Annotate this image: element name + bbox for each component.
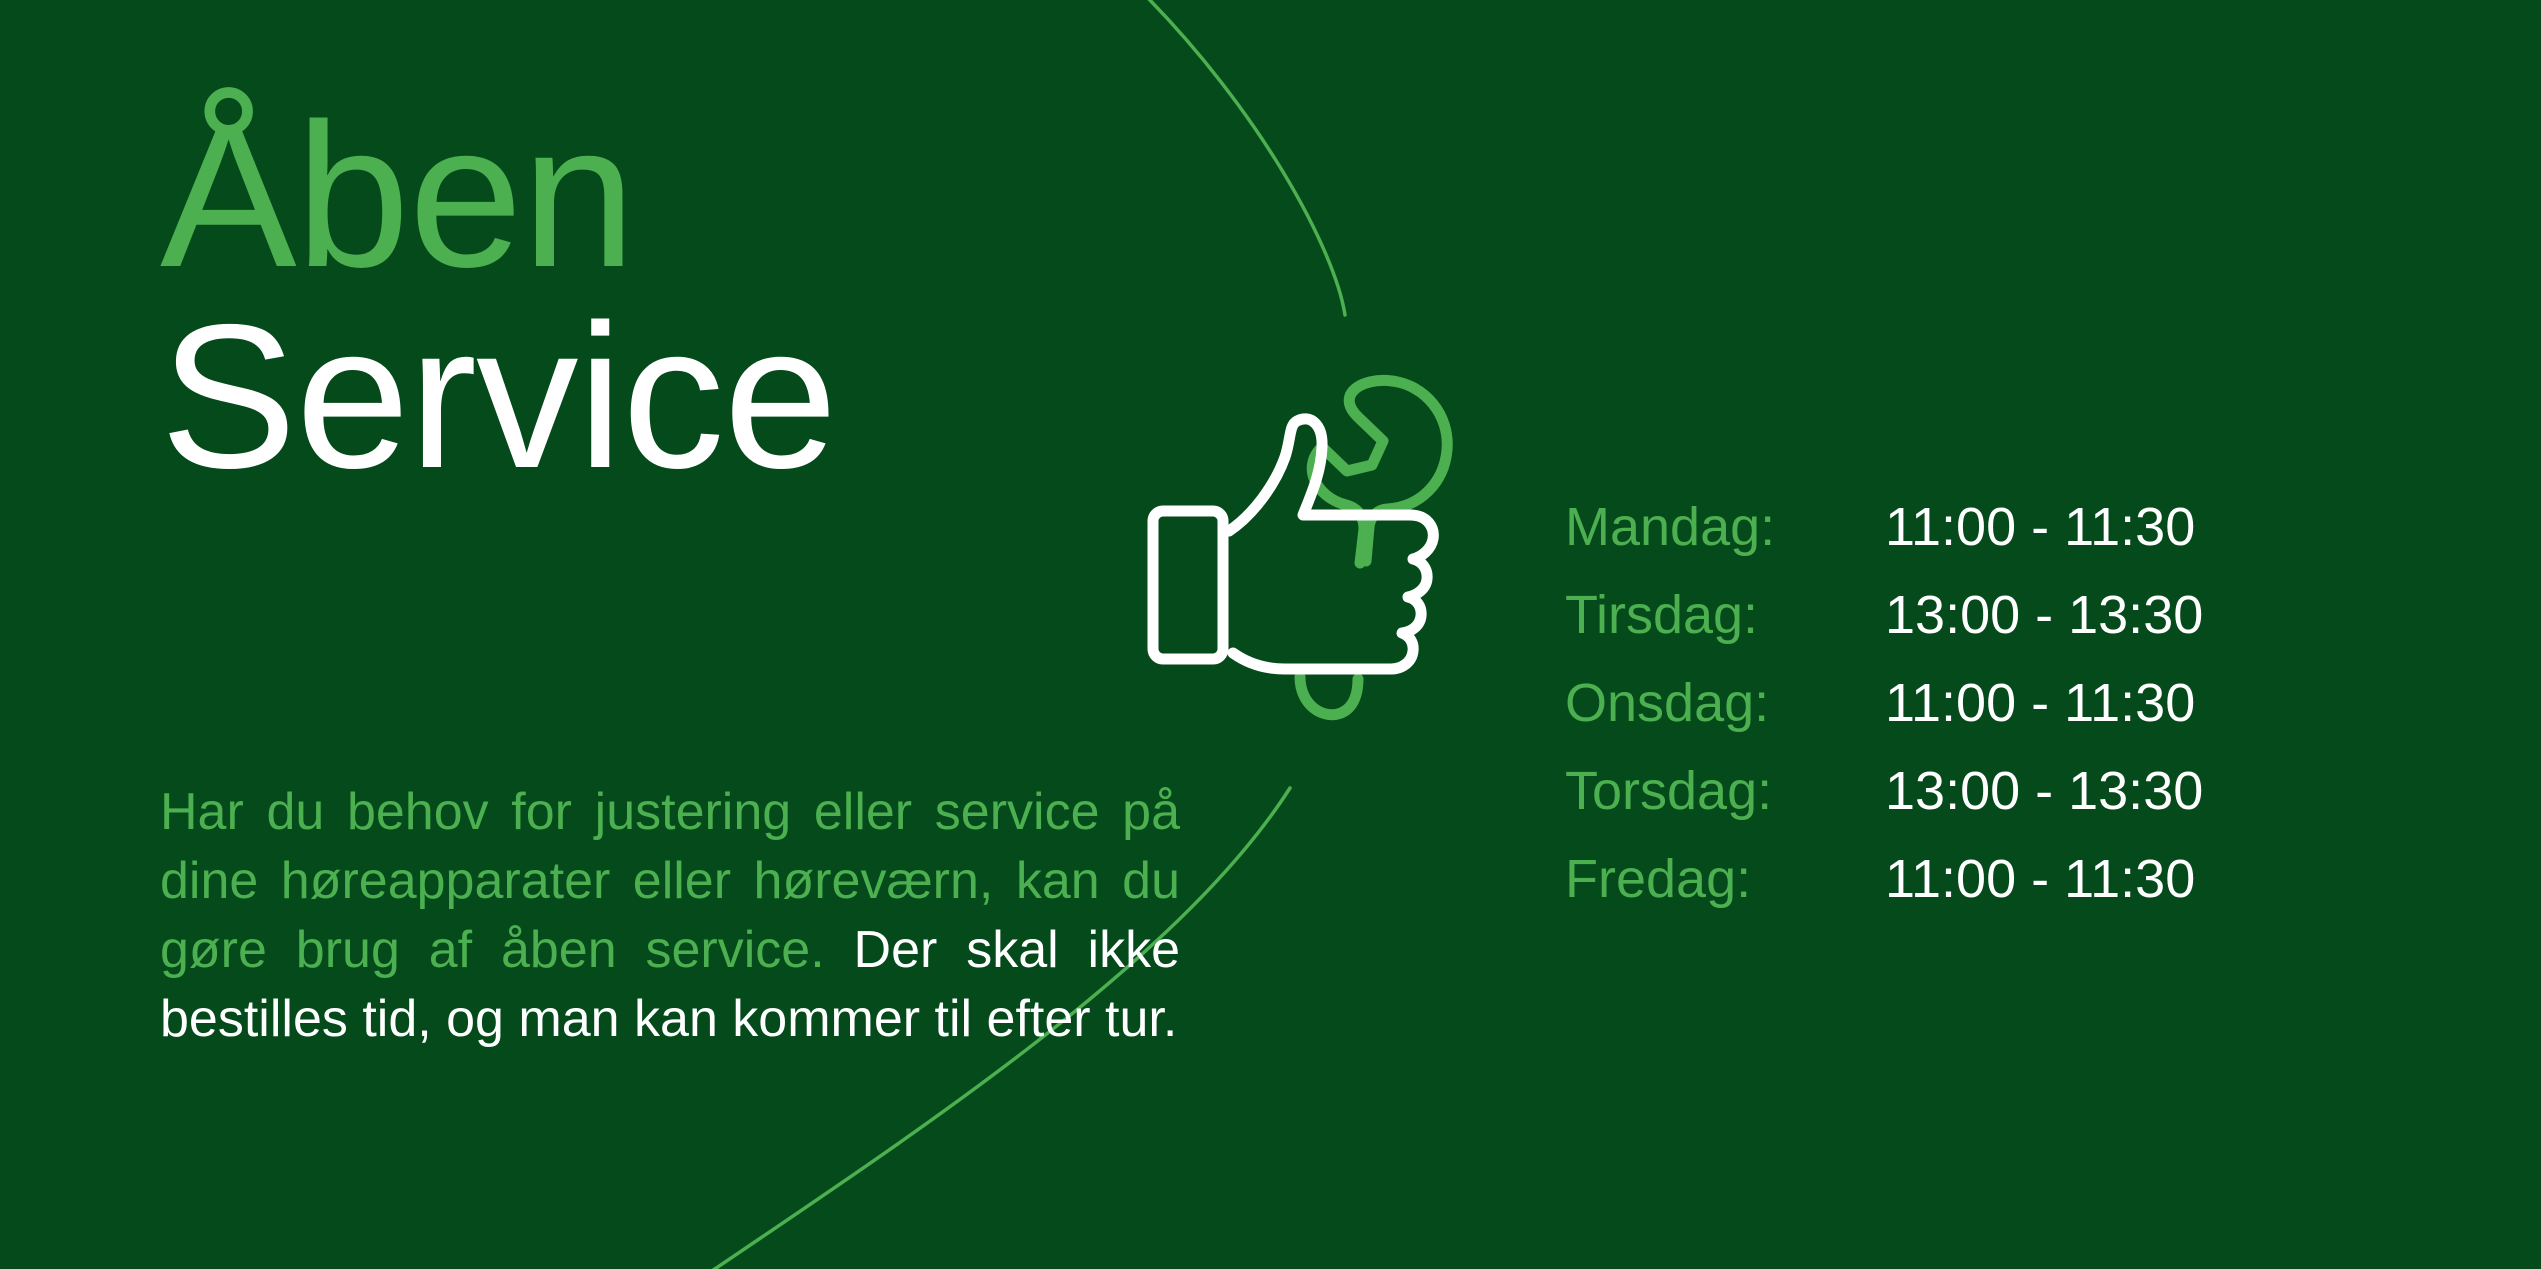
- schedule-time-value: 13:00 - 13:30: [1885, 764, 2203, 818]
- thumbs-up-icon: [1153, 419, 1433, 669]
- description-paragraph: Har du behov for justering eller service…: [160, 778, 1180, 1055]
- schedule-day-label: Fredag:: [1565, 852, 1885, 906]
- cuff-arc-icon: [1300, 677, 1358, 715]
- opening-hours-table: Mandag: 11:00 - 11:30 Tirsdag: 13:00 - 1…: [1565, 500, 2203, 906]
- schedule-day-label: Torsdag:: [1565, 764, 1885, 818]
- schedule-day-label: Onsdag:: [1565, 676, 1885, 730]
- poster-canvas: Åben Service Har du behov for justering …: [0, 0, 2541, 1269]
- schedule-time-value: 11:00 - 11:30: [1885, 500, 2203, 554]
- title-line-service: Service: [160, 297, 1200, 498]
- page-title: Åben Service: [160, 96, 1200, 498]
- schedule-day-label: Mandag:: [1565, 500, 1885, 554]
- thumb-base-rect: [1153, 511, 1223, 659]
- title-line-aben: Åben: [160, 96, 1200, 297]
- schedule-time-value: 11:00 - 11:30: [1885, 676, 2203, 730]
- wrench-icon: [1312, 380, 1447, 563]
- schedule-time-value: 11:00 - 11:30: [1885, 852, 2203, 906]
- thumbs-up-wrench-illustration: [1125, 355, 1485, 735]
- schedule-time-value: 13:00 - 13:30: [1885, 588, 2203, 642]
- schedule-day-label: Tirsdag:: [1565, 588, 1885, 642]
- illustration-svg: [1125, 355, 1485, 735]
- headline-block: Åben Service: [160, 96, 1200, 498]
